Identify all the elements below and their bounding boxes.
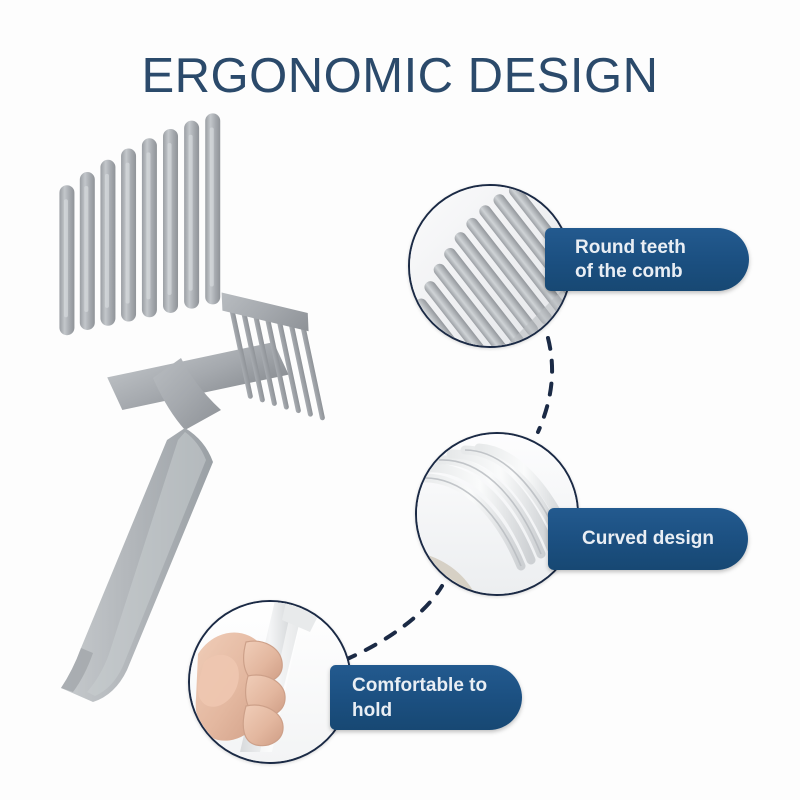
page-title: ERGONOMIC DESIGN (0, 52, 800, 101)
infographic-canvas: ERGONOMIC DESIGN (0, 0, 800, 800)
connector-round-teeth-to-curved (538, 338, 552, 432)
callout-circle-comfortable-to-hold (188, 600, 352, 764)
label-curved-design: Curved design (548, 508, 748, 570)
label-round-teeth: Round teeth of the comb (545, 228, 749, 291)
label-comfortable-to-hold-line-1: Comfortable to (352, 673, 522, 698)
label-round-teeth-line-2: of the comb (575, 260, 749, 284)
label-comfortable-to-hold-line-2: hold (352, 698, 522, 723)
label-comfortable-to-hold: Comfortable to hold (330, 665, 522, 730)
connector-hold-to-curved (345, 586, 442, 660)
label-curved-design-line-1: Curved design (582, 527, 748, 551)
hand-holding-comb-image (190, 602, 350, 762)
label-round-teeth-line-1: Round teeth (575, 236, 749, 260)
